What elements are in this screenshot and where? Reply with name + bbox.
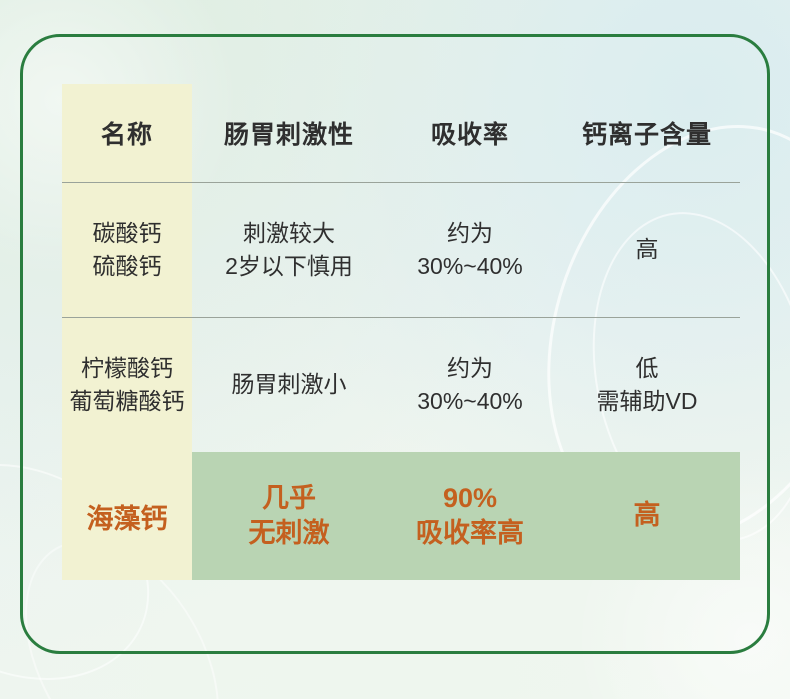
row-1-calcium: 高: [554, 183, 740, 318]
table-header-row: 名称 肠胃刺激性 吸收率 钙离子含量: [62, 84, 740, 183]
row-3-calcium-label: 高: [634, 500, 661, 530]
table-row: 柠檬酸钙 葡萄糖酸钙 肠胃刺激小 约为 30%~40% 低 需辅助VD: [62, 318, 740, 453]
header-irritation: 肠胃刺激性: [192, 84, 386, 183]
table-row-highlighted: 海藻钙 几乎 无刺激 90% 吸收率高 高: [62, 452, 740, 580]
header-absorption: 吸收率: [386, 84, 554, 183]
row-3-absorption: 90% 吸收率高: [386, 452, 554, 580]
row-3-name: 海藻钙: [62, 452, 192, 580]
row-3-irritation: 几乎 无刺激: [192, 452, 386, 580]
row-2-irritation: 肠胃刺激小: [192, 318, 386, 453]
row-1-irritation: 刺激较大 2岁以下慎用: [192, 183, 386, 318]
row-1-absorption: 约为 30%~40%: [386, 183, 554, 318]
row-2-name: 柠檬酸钙 葡萄糖酸钙: [62, 318, 192, 453]
row-3-irritation-label: 几乎 无刺激: [249, 483, 330, 548]
comparison-table-wrapper: 名称 肠胃刺激性 吸收率 钙离子含量 碳酸钙 硫酸钙 刺激较大 2岁以下慎用 约…: [62, 84, 740, 580]
header-calcium-content: 钙离子含量: [554, 84, 740, 183]
row-3-absorption-label: 90% 吸收率高: [416, 483, 524, 548]
row-2-absorption: 约为 30%~40%: [386, 318, 554, 453]
table-row: 碳酸钙 硫酸钙 刺激较大 2岁以下慎用 约为 30%~40% 高: [62, 183, 740, 318]
calcium-comparison-table: 名称 肠胃刺激性 吸收率 钙离子含量 碳酸钙 硫酸钙 刺激较大 2岁以下慎用 约…: [62, 84, 740, 580]
infographic-page: 名称 肠胃刺激性 吸收率 钙离子含量 碳酸钙 硫酸钙 刺激较大 2岁以下慎用 约…: [0, 0, 790, 699]
row-1-name: 碳酸钙 硫酸钙: [62, 183, 192, 318]
row-2-calcium: 低 需辅助VD: [554, 318, 740, 453]
row-3-calcium: 高: [554, 452, 740, 580]
row-3-name-label: 海藻钙: [87, 504, 168, 534]
header-name: 名称: [62, 84, 192, 183]
